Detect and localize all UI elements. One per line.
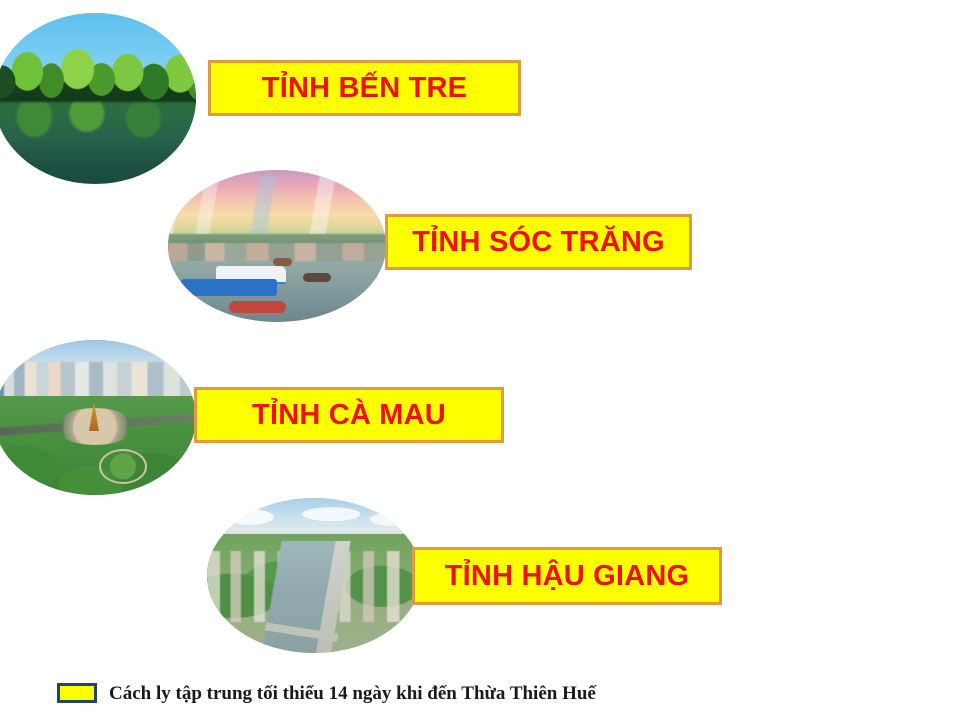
clouds-layer	[207, 503, 421, 531]
slide-canvas: TỈNH BẾN TRE TỈNH SÓC TRĂNG TỈNH CÀ MAU	[0, 0, 960, 720]
small-boat-right	[303, 273, 331, 282]
legend: Cách ly tập trung tối thiểu 14 ngày khi …	[57, 683, 596, 703]
water-reflection-layer	[0, 102, 196, 184]
label-box-ben-tre[interactable]: TỈNH BẾN TRE	[208, 60, 521, 116]
floating-market-sunset-photo	[168, 170, 386, 322]
red-sampan-boats	[229, 301, 286, 313]
label-text-soc-trang: TỈNH SÓC TRĂNG	[412, 228, 665, 257]
small-boat-far	[273, 258, 293, 266]
coconut-palms-river-photo	[0, 13, 196, 184]
yellow-legend-swatch	[57, 683, 97, 703]
label-text-hau-giang: TỈNH HẬU GIANG	[445, 562, 689, 591]
sun-rays-layer	[168, 176, 386, 234]
garden-roundabout	[99, 449, 147, 484]
label-text-ben-tre: TỈNH BẾN TRE	[262, 74, 467, 103]
label-text-ca-mau: TỈNH CÀ MAU	[252, 401, 446, 430]
city-park-monument-aerial-photo	[0, 340, 196, 495]
label-box-soc-trang[interactable]: TỈNH SÓC TRĂNG	[385, 214, 692, 270]
label-box-ca-mau[interactable]: TỈNH CÀ MAU	[194, 387, 504, 443]
palm-trees-layer	[0, 47, 196, 105]
blue-cargo-boat	[181, 279, 277, 296]
canal-town-aerial-photo	[207, 498, 421, 653]
label-box-hau-giang[interactable]: TỈNH HẬU GIANG	[412, 547, 722, 605]
legend-caption: Cách ly tập trung tối thiểu 14 ngày khi …	[109, 684, 596, 703]
